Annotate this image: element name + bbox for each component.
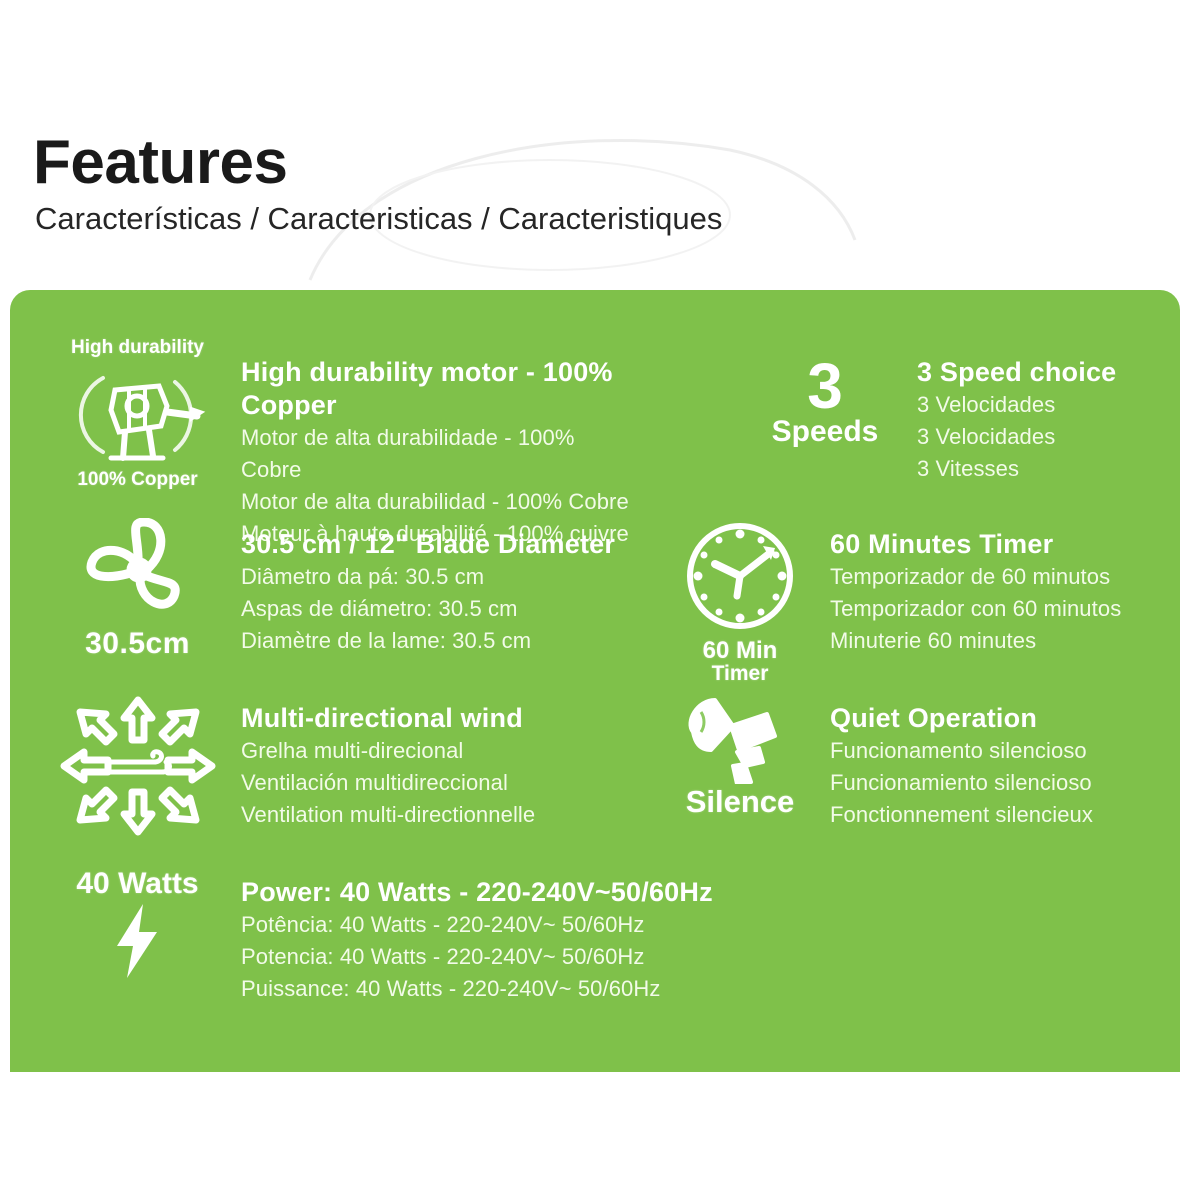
power-icon-caption: 40 Watts <box>76 868 198 900</box>
fan-blade-icon-block: 30.5cm <box>50 518 225 660</box>
features-panel: High durability 100% Copper <box>10 290 1180 1072</box>
motor-icon <box>63 360 213 468</box>
quiet-line-es: Funcionamiento silencioso <box>830 767 1180 799</box>
blade-line-pt: Diâmetro da pá: 30.5 cm <box>241 561 660 593</box>
clock-icon-caption-line2: Timer <box>712 663 769 685</box>
three-speeds-icon-block: 3 Speeds <box>755 338 895 447</box>
feature-power: 40 Watts Power: 40 Watts - 220-240V~50/6… <box>50 868 850 1005</box>
wind-text-block: Multi-directional wind Grelha multi-dire… <box>225 692 640 831</box>
power-text-block: Power: 40 Watts - 220-240V~50/60Hz Potên… <box>225 868 850 1005</box>
wind-icon-block <box>50 692 225 840</box>
quiet-line-pt: Funcionamento silencioso <box>830 735 1180 767</box>
wind-title: Multi-directional wind <box>241 702 640 735</box>
timer-title: 60 Minutes Timer <box>830 528 1180 561</box>
motor-icon-block: High durability 100% Copper <box>50 338 225 490</box>
blade-line-fr: Diamètre de la lame: 30.5 cm <box>241 625 660 657</box>
feature-wind: Multi-directional wind Grelha multi-dire… <box>50 692 640 840</box>
silence-icon-caption: Silence <box>686 786 795 819</box>
motor-icon-caption-top: High durability <box>71 338 204 358</box>
multi-directional-arrows-icon <box>58 692 218 840</box>
three-speeds-icon: 3 <box>807 356 843 417</box>
clock-icon-caption-line1: 60 Min <box>703 638 778 663</box>
clock-icon-block: 60 Min Timer <box>660 518 820 685</box>
timer-text-block: 60 Minutes Timer Temporizador de 60 minu… <box>820 518 1180 657</box>
quiet-title: Quiet Operation <box>830 702 1180 735</box>
speeds-text-block: 3 Speed choice 3 Velocidades 3 Velocidad… <box>895 338 1175 485</box>
lightning-bolt-icon <box>107 902 169 980</box>
page-subtitle: Características / Caracteristicas / Cara… <box>35 202 1033 236</box>
page-header: Features Características / Caracteristic… <box>33 132 1033 236</box>
motor-title: High durability motor - 100% Copper <box>241 356 640 422</box>
motor-line-es: Motor de alta durabilidad - 100% Cobre <box>241 486 640 518</box>
feature-blade: 30.5cm 30.5 cm / 12" Blade Diameter Diâm… <box>50 518 660 660</box>
power-icon-block: 40 Watts <box>50 868 225 980</box>
power-title: Power: 40 Watts - 220-240V~50/60Hz <box>241 876 850 909</box>
blade-text-block: 30.5 cm / 12" Blade Diameter Diâmetro da… <box>225 518 660 657</box>
three-speeds-icon-label: Speeds <box>772 417 879 447</box>
speeds-line-fr: 3 Vitesses <box>917 453 1175 485</box>
megaphone-silence-icon <box>675 692 805 784</box>
fan-blade-icon <box>68 518 208 626</box>
speeds-line-es: 3 Velocidades <box>917 421 1175 453</box>
fan-blade-icon-caption: 30.5cm <box>85 628 190 660</box>
speeds-line-pt: 3 Velocidades <box>917 389 1175 421</box>
power-line-pt: Potência: 40 Watts - 220-240V~ 50/60Hz <box>241 909 850 941</box>
motor-icon-caption-bottom: 100% Copper <box>77 470 197 490</box>
page-title: Features <box>33 132 1033 194</box>
feature-timer: 60 Min Timer 60 Minutes Timer Temporizad… <box>660 518 1180 685</box>
quiet-text-block: Quiet Operation Funcionamento silencioso… <box>820 692 1180 831</box>
wind-line-pt: Grelha multi-direcional <box>241 735 640 767</box>
timer-line-fr: Minuterie 60 minutes <box>830 625 1180 657</box>
feature-speeds: 3 Speeds 3 Speed choice 3 Velocidades 3 … <box>755 338 1175 485</box>
quiet-line-fr: Fonctionnement silencieux <box>830 799 1180 831</box>
power-line-es: Potencia: 40 Watts - 220-240V~ 50/60Hz <box>241 941 850 973</box>
clock-icon <box>679 518 801 636</box>
timer-line-pt: Temporizador de 60 minutos <box>830 561 1180 593</box>
blade-line-es: Aspas de diámetro: 30.5 cm <box>241 593 660 625</box>
wind-line-fr: Ventilation multi-directionnelle <box>241 799 640 831</box>
motor-line-pt: Motor de alta durabilidade - 100% Cobre <box>241 422 640 486</box>
blade-title: 30.5 cm / 12" Blade Diameter <box>241 528 660 561</box>
wind-line-es: Ventilación multidireccional <box>241 767 640 799</box>
power-line-fr: Puissance: 40 Watts - 220-240V~ 50/60Hz <box>241 973 850 1005</box>
feature-quiet: Silence Quiet Operation Funcionamento si… <box>660 692 1180 831</box>
timer-line-es: Temporizador con 60 minutos <box>830 593 1180 625</box>
speeds-title: 3 Speed choice <box>917 356 1175 389</box>
silence-icon-block: Silence <box>660 692 820 819</box>
